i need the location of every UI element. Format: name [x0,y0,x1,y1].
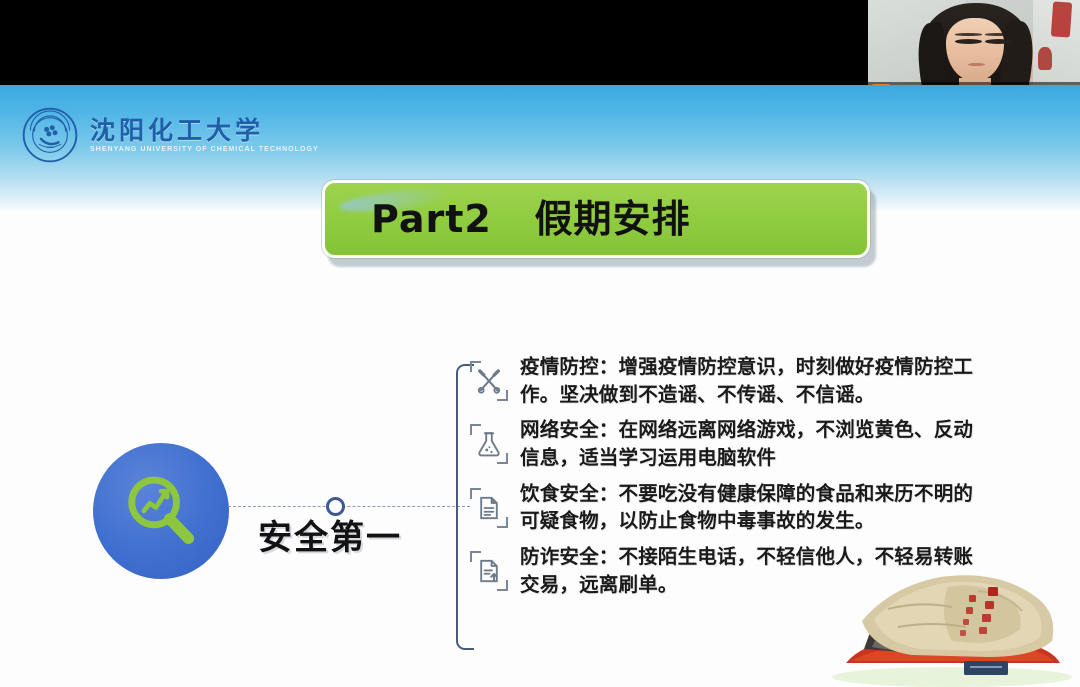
campus-stone-monument-icon [828,557,1076,687]
list-item-text: 疫情防控：增强疫情防控意识，时刻做好疫情防控工作。坚决做到不造谣、不传谣、不信谣… [520,353,980,408]
presentation-slide: 沈阳化工大学 SHENYANG UNIVERSITY OF CHEMICAL T… [0,85,1080,687]
slide-title-banner: Part2 假期安排 [322,180,870,258]
list-item: 饮食安全：不要吃没有健康保障的食品和来历不明的可疑食物，以防止食物中毒事故的发生… [470,480,980,535]
list-item-text: 饮食安全：不要吃没有健康保障的食品和来历不明的可疑食物，以防止食物中毒事故的发生… [520,480,980,535]
slide-title-text: Part2 假期安排 [371,200,691,238]
university-name-en: SHENYANG UNIVERSITY OF CHEMICAL TECHNOLO… [90,146,319,153]
document-upload-icon [470,551,508,591]
crossed-tools-icon [470,361,508,401]
list-item-text: 网络安全：在网络远离网络游戏，不浏览黄色、反动信息，适当学习运用电脑软件 [520,416,980,471]
list-item: 网络安全：在网络远离网络游戏，不浏览黄色、反动信息，适当学习运用电脑软件 [470,416,980,471]
university-seal-icon [22,107,78,163]
list-item: 疫情防控：增强疫情防控意识，时刻做好疫情防控工作。坚决做到不造谣、不传谣、不信谣… [470,353,980,408]
university-name-cn: 沈阳化工大学 [90,118,319,143]
diagram-node-circle [93,443,229,579]
university-logo: 沈阳化工大学 SHENYANG UNIVERSITY OF CHEMICAL T… [22,107,319,163]
magnifier-chart-icon [118,468,204,554]
diagram-connector-line [228,506,470,507]
flask-icon [470,424,508,464]
screen-root: 张国平 沈阳化工大学 SHENYANG UNIVERSITY OF CHE [0,0,1080,687]
ring-node-icon [326,497,345,516]
diagram-node-label: 安全第一 [258,521,402,555]
document-icon [470,488,508,528]
